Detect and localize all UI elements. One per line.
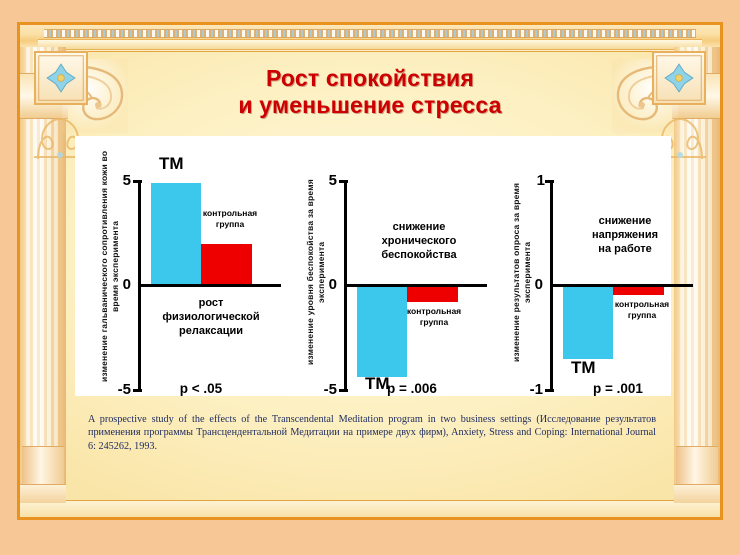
bead-molding-decoration [44, 29, 696, 38]
citation-text: A prospective study of the effects of th… [88, 413, 656, 453]
chart2-description-line2: хронического [349, 234, 489, 248]
chart3-description-line2: напряжения [555, 228, 695, 242]
chart1-description-line3: релаксации [141, 324, 281, 338]
chart1-tick-label-zero: 0 [109, 276, 131, 293]
chart2-control-label: контрольная группа [397, 306, 471, 328]
chart2-tick-label-max: 5 [315, 172, 337, 189]
chart3-tick-label-max: 1 [523, 172, 545, 189]
chart2-tick-label-zero: 0 [315, 276, 337, 293]
column-base-icon [676, 446, 718, 503]
chart3-bar-tm[interactable] [563, 287, 613, 359]
column-base-icon [22, 446, 64, 503]
chart-chronic-anxiety: изменение уровня беспокойства за время э… [287, 136, 487, 396]
chart-job-tension: изменение результатов опроса за время эк… [493, 136, 693, 396]
chart3-tm-label: ТМ [571, 358, 596, 378]
slide-frame: Рост спокойствия и уменьшение стресса из… [17, 22, 723, 520]
chart1-control-label-line1: контрольная [193, 208, 267, 219]
chart2-p-value: p = .006 [337, 381, 487, 396]
chart1-tick-top [133, 180, 142, 183]
chart2-bar-tm[interactable] [357, 287, 407, 377]
title-line-1: Рост спокойствия [20, 65, 720, 92]
chart3-y-axis-label: изменение результатов опроса за время эк… [511, 160, 533, 385]
chart1-bar-control[interactable] [201, 244, 252, 284]
chart2-description-line1: снижение [349, 220, 489, 234]
chart2-control-label-line1: контрольная [397, 306, 471, 317]
chart-galvanic-skin-resistance: изменение гальванического сопротивления … [81, 136, 281, 396]
chart1-tick-label-min: -5 [103, 381, 131, 398]
chart1-bar-tm[interactable] [151, 183, 201, 284]
bottom-ornament-band [20, 500, 720, 517]
chart1-description: рост физиологической релаксации [141, 296, 281, 338]
chart3-tick-top [545, 180, 554, 183]
chart2-tick-label-min: -5 [309, 381, 337, 398]
chart3-description: снижение напряжения на работе [555, 214, 695, 256]
chart3-control-label-line2: группа [605, 310, 679, 321]
chart2-control-label-line2: группа [397, 317, 471, 328]
chart1-description-line1: рост [141, 296, 281, 310]
chart1-p-value: p < .05 [131, 381, 271, 396]
chart3-description-line3: на работе [555, 242, 695, 256]
top-ornament-band [20, 25, 720, 52]
chart3-tick-label-min: -1 [515, 381, 543, 398]
chart3-bar-control[interactable] [613, 287, 664, 295]
chart2-tick-top [339, 180, 348, 183]
chart1-control-label-line2: группа [193, 219, 267, 230]
chart2-bar-control[interactable] [407, 287, 458, 302]
chart2-y-axis-label: изменение уровня беспокойства за время э… [305, 160, 327, 385]
charts-panel: изменение гальванического сопротивления … [75, 136, 671, 396]
chart2-description: снижение хронического беспокойства [349, 220, 489, 262]
chart2-description-line3: беспокойства [349, 248, 489, 262]
chart1-control-label: контрольная группа [193, 208, 267, 230]
chart1-description-line2: физиологической [141, 310, 281, 324]
rail-molding-decoration [38, 39, 702, 50]
chart3-control-label-line1: контрольная [605, 299, 679, 310]
chart1-tm-label: ТМ [159, 154, 184, 174]
chart3-control-label: контрольная группа [605, 299, 679, 321]
chart3-p-value: p = .001 [543, 381, 693, 396]
chart3-description-line1: снижение [555, 214, 695, 228]
title-line-2: и уменьшение стресса [20, 92, 720, 119]
chart1-tick-label-max: 5 [109, 172, 131, 189]
chart3-tick-label-zero: 0 [521, 276, 543, 293]
chart1-zero-line [138, 284, 281, 287]
page-title: Рост спокойствия и уменьшение стресса [20, 65, 720, 119]
